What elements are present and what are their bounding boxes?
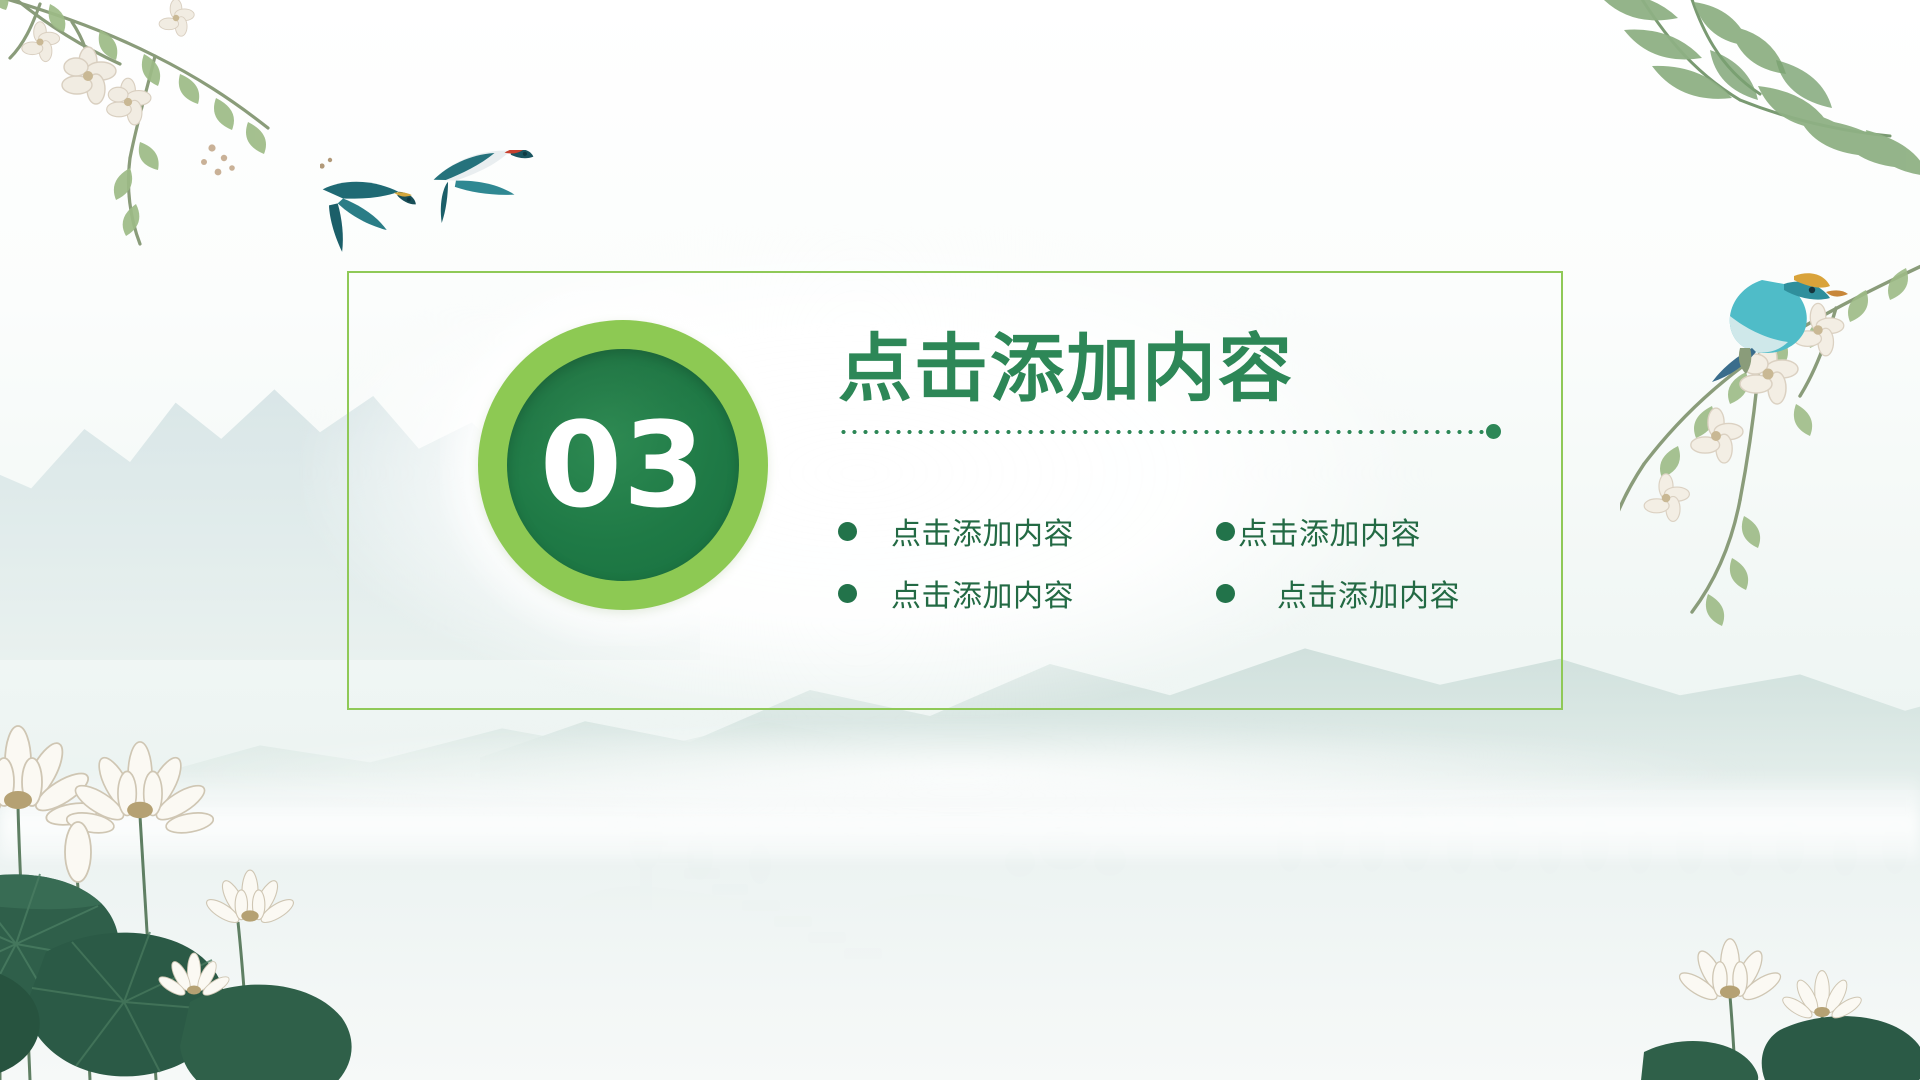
list-item[interactable]: 点击添加内容: [838, 509, 1208, 553]
list-item[interactable]: 点击添加内容: [838, 571, 1208, 615]
badge-number-text: 03: [540, 406, 706, 524]
list-item-label: 点击添加内容: [891, 571, 1074, 615]
title-underline-end-dot: [1486, 424, 1501, 439]
title-dotted-line: [838, 429, 1484, 435]
badge-inner-circle: 03: [507, 349, 739, 581]
list-item[interactable]: 点击添加内容: [1208, 509, 1528, 553]
section-number-badge: 03: [478, 320, 768, 610]
bullet-dot-icon: [838, 584, 857, 603]
bullet-list: 点击添加内容 点击添加内容 点击添加内容 点击添加内容: [838, 500, 1528, 624]
page-title: 点击添加内容: [838, 332, 1538, 407]
bullet-dot-icon: [1216, 584, 1235, 603]
list-item-label: 点击添加内容: [1277, 571, 1460, 615]
title-block: 点击添加内容: [838, 332, 1538, 443]
bullet-dot-icon: [838, 522, 857, 541]
list-item-label: 点击添加内容: [1238, 509, 1421, 553]
bullet-dot-icon: [1216, 522, 1235, 541]
title-underline: [838, 421, 1508, 443]
slide-canvas: 03 点击添加内容 点击添加内容 点击添加内容 点击添加内容 点击添加内容: [0, 0, 1920, 1080]
list-item-label: 点击添加内容: [891, 509, 1074, 553]
list-item[interactable]: 点击添加内容: [1208, 571, 1528, 615]
